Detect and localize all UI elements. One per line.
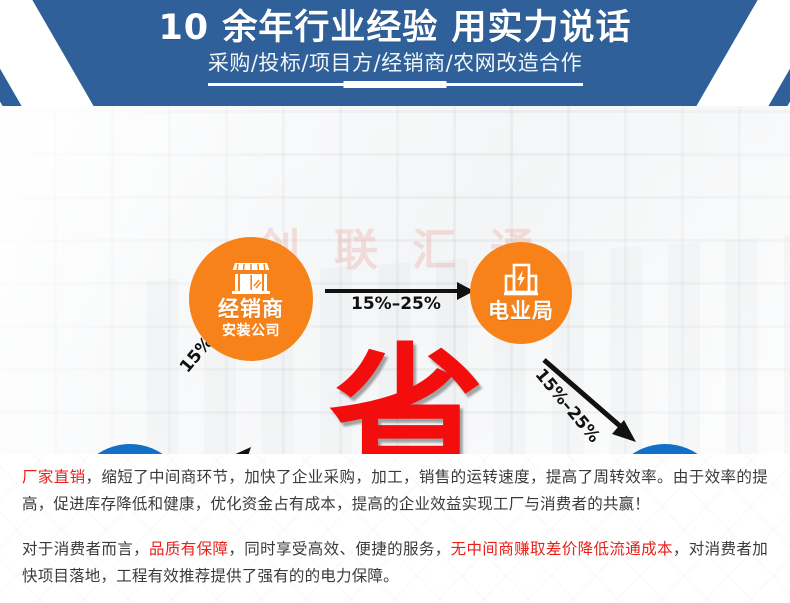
paragraph-consumer-benefit: 对于消费者而言，品质有保障，同时享受高效、便捷的服务，无中间商赚取差价降低流通成… xyxy=(22,518,768,590)
arrow-label-dealer-to-bureau: 15%–25% xyxy=(351,294,441,314)
distribution-diagram: 创联汇通 省 15%–25% 15%–25% 15%–25% 在这里省了中间环节… xyxy=(0,106,790,454)
node-dealer-label: 经销商 xyxy=(218,297,284,321)
node-dealer[interactable]: 经销商 安装公司 xyxy=(189,237,313,361)
banner-subtitle: 采购/投标/项目方/经销商/农网改造合作 xyxy=(208,50,582,76)
paragraph1-rest: ，缩短了中间商环节，加快了企业采购，加工，销售的运转速度，提高了周转效率。由于效… xyxy=(22,468,768,513)
arrow-stem xyxy=(325,289,459,293)
header-banner: 10 余年行业经验 用实力说话 采购/投标/项目方/经销商/农网改造合作 xyxy=(0,0,790,106)
highlight-factory-direct: 厂家直销 xyxy=(22,468,86,486)
node-power-bureau[interactable]: 电业局 xyxy=(470,242,572,344)
paragraph-manufacturer-direct: 厂家直销，缩短了中间商环节，加快了企业采购，加工，销售的运转速度，提高了周转效率… xyxy=(22,454,768,518)
divider-knob xyxy=(344,81,447,88)
banner-divider xyxy=(208,81,583,88)
highlight-no-middleman: 无中间商赚取差价降低流通成本 xyxy=(451,540,673,558)
power-building-icon xyxy=(503,263,539,297)
paragraph2-lead: 对于消费者而言， xyxy=(22,540,149,558)
paragraph2-middle: ，同时享受高效、便捷的服务， xyxy=(228,540,450,558)
promo-page: 10 余年行业经验 用实力说话 采购/投标/项目方/经销商/农网改造合作 创联汇… xyxy=(0,0,790,603)
footer-description: 厂家直销，缩短了中间商环节，加快了企业采购，加工，销售的运转速度，提高了周转效率… xyxy=(0,454,790,603)
node-power-bureau-label: 电业局 xyxy=(488,299,554,323)
banner-title: 10 余年行业经验 用实力说话 xyxy=(158,7,631,49)
storefront-icon xyxy=(231,259,271,295)
highlight-quality-guarantee: 品质有保障 xyxy=(149,540,228,558)
arrow-brand-to-dealer xyxy=(163,443,255,454)
node-dealer-sublabel: 安装公司 xyxy=(222,322,280,340)
savings-character: 省 xyxy=(329,345,484,454)
